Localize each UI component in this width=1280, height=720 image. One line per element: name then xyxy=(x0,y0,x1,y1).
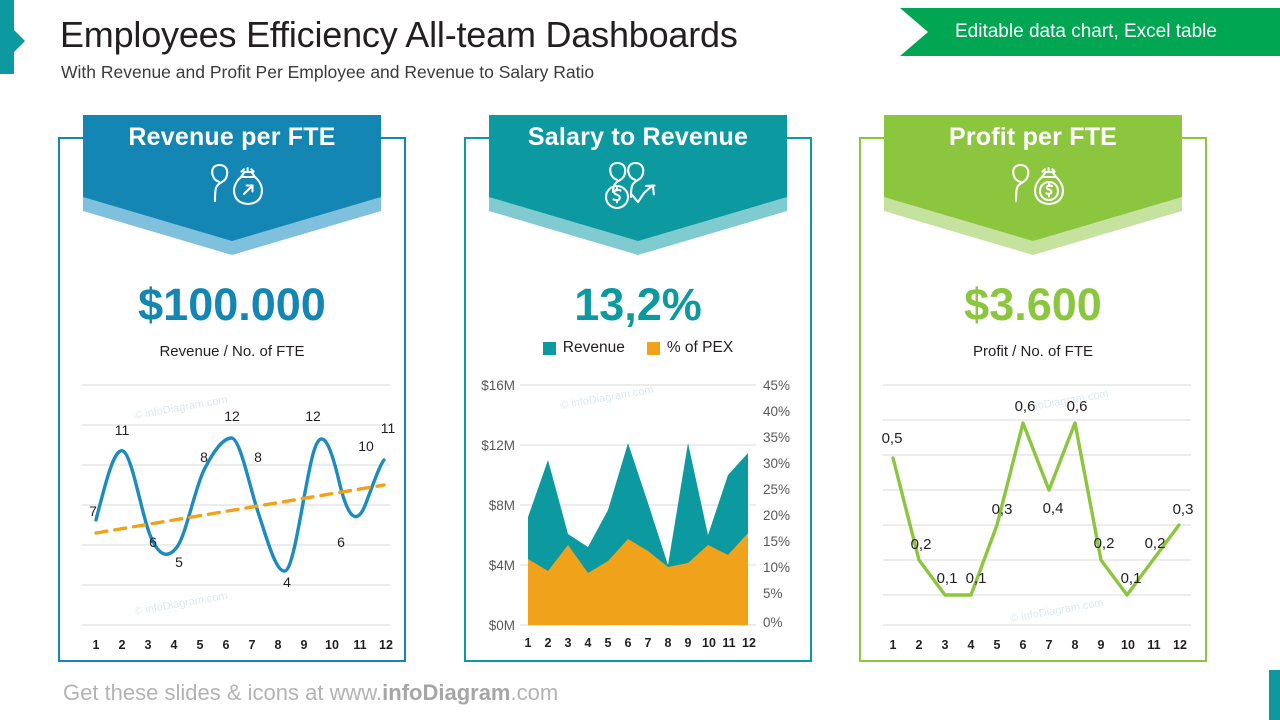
legend-label-revenue: Revenue xyxy=(563,339,625,357)
two-people-dollar-arrow-icon xyxy=(599,159,677,216)
y-left-tick: $16M xyxy=(481,378,515,393)
data-label: 7 xyxy=(89,503,97,519)
banner-arrow-shape xyxy=(83,115,381,241)
svg-text:6: 6 xyxy=(625,636,632,650)
data-label: 11 xyxy=(381,420,396,436)
card-banner: Profit per FTE xyxy=(884,115,1182,255)
data-label: 0,6 xyxy=(1015,398,1036,415)
data-label: 6 xyxy=(337,534,345,550)
left-edge-accent xyxy=(0,0,14,74)
legend-swatch-pex xyxy=(647,342,660,355)
svg-text:7: 7 xyxy=(249,638,256,652)
y-right-tick: 15% xyxy=(763,534,790,549)
y-right-tick: 20% xyxy=(763,508,790,523)
data-label: 6 xyxy=(149,534,157,550)
y-left-tick: $0M xyxy=(489,618,515,633)
y-right-tick: 5% xyxy=(763,586,783,601)
card-value: $3.600 xyxy=(861,279,1205,331)
data-label: 8 xyxy=(254,449,262,465)
banner-shadow xyxy=(884,123,1182,255)
card-banner: Salary to Revenue xyxy=(489,115,787,255)
slide-root: Employees Efficiency All-team Dashboards… xyxy=(0,0,1280,720)
data-label: 0,2 xyxy=(911,536,932,553)
svg-text:5: 5 xyxy=(994,638,1001,652)
data-label: 11 xyxy=(115,422,130,438)
data-label: 0,3 xyxy=(1173,501,1194,518)
svg-text:9: 9 xyxy=(685,636,692,650)
svg-text:6: 6 xyxy=(223,638,230,652)
data-label: 0,1 xyxy=(1121,570,1142,587)
svg-text:8: 8 xyxy=(1072,638,1079,652)
data-label: 10 xyxy=(358,438,374,454)
svg-text:1: 1 xyxy=(890,638,897,652)
footer-suffix: .com xyxy=(511,680,559,705)
editable-badge: Editable data chart, Excel table xyxy=(900,8,1280,56)
card-banner: Revenue per FTE xyxy=(83,115,381,255)
svg-text:11: 11 xyxy=(722,636,735,650)
card-revenue-per-fte: Revenue per FTE $100.000 Revenue / No. o… xyxy=(58,137,406,662)
svg-text:10: 10 xyxy=(325,638,339,652)
svg-text:9: 9 xyxy=(301,638,308,652)
svg-text:7: 7 xyxy=(1046,638,1053,652)
data-label: 4 xyxy=(283,574,291,590)
svg-text:10: 10 xyxy=(1121,638,1135,652)
y-left-tick: $8M xyxy=(489,498,515,513)
legend-label-pex: % of PEX xyxy=(667,339,733,357)
person-money-bag-icon xyxy=(197,159,267,216)
badge-label: Editable data chart, Excel table xyxy=(955,8,1217,56)
svg-text:9: 9 xyxy=(1098,638,1105,652)
svg-text:12: 12 xyxy=(742,636,756,650)
y-right-tick: 0% xyxy=(763,615,783,630)
svg-text:5: 5 xyxy=(605,636,612,650)
data-label: 12 xyxy=(305,408,321,424)
svg-text:3: 3 xyxy=(565,636,572,650)
footer-promo: Get these slides & icons at www.infoDiag… xyxy=(63,680,558,706)
data-label: 0,1 xyxy=(966,570,987,587)
svg-text:10: 10 xyxy=(702,636,716,650)
footer-brand: infoDiagram xyxy=(382,680,510,705)
data-label: 8 xyxy=(200,449,208,465)
svg-text:2: 2 xyxy=(119,638,126,652)
watermark: © infoDiagram.com xyxy=(133,394,228,422)
svg-text:4: 4 xyxy=(171,638,178,652)
page-subtitle: With Revenue and Profit Per Employee and… xyxy=(61,62,594,83)
bottom-right-accent xyxy=(1269,670,1280,720)
chart-revenue-per-fte: © infoDiagram.com © infoDiagram.com 7 11… xyxy=(60,375,404,660)
banner-arrow-shape xyxy=(489,115,787,241)
footer-prefix: Get these slides & icons at www. xyxy=(63,680,382,705)
y-right-tick: 30% xyxy=(763,456,790,471)
y-right-tick: 10% xyxy=(763,560,790,575)
svg-text:6: 6 xyxy=(1020,638,1027,652)
data-label: 0,1 xyxy=(937,570,958,587)
data-label: 0,2 xyxy=(1145,535,1166,552)
y-left-tick: $12M xyxy=(481,438,515,453)
svg-text:8: 8 xyxy=(665,636,672,650)
data-label: 0,3 xyxy=(992,501,1013,518)
y-right-tick: 25% xyxy=(763,482,790,497)
data-label: 12 xyxy=(224,408,240,424)
svg-text:11: 11 xyxy=(353,638,366,652)
svg-text:12: 12 xyxy=(1173,638,1187,652)
card-profit-per-fte: Profit per FTE $3.600 Profit xyxy=(859,137,1207,662)
left-edge-accent-tip xyxy=(14,30,25,52)
data-label: 0,5 xyxy=(882,430,903,447)
card-title: Revenue per FTE xyxy=(83,123,381,152)
y-left-tick: $4M xyxy=(489,558,515,573)
watermark: © infoDiagram.com xyxy=(559,384,654,412)
svg-text:4: 4 xyxy=(968,638,975,652)
y-right-tick: 45% xyxy=(763,378,790,393)
banner-arrow-shape xyxy=(884,115,1182,241)
data-label: 0,2 xyxy=(1094,535,1115,552)
svg-text:5: 5 xyxy=(197,638,204,652)
svg-text:3: 3 xyxy=(145,638,152,652)
svg-text:7: 7 xyxy=(645,636,652,650)
y-right-tick: 40% xyxy=(763,404,790,419)
svg-text:1: 1 xyxy=(525,636,532,650)
card-caption: Profit / No. of FTE xyxy=(861,343,1205,360)
svg-text:1: 1 xyxy=(93,638,100,652)
chart-salary-to-revenue: © infoDiagram.com © infoDiagram.com $16M… xyxy=(466,375,810,660)
watermark: © infoDiagram.com xyxy=(133,590,228,618)
legend-swatch-revenue xyxy=(543,342,556,355)
svg-text:8: 8 xyxy=(275,638,282,652)
svg-text:11: 11 xyxy=(1147,638,1160,652)
card-caption: Revenue / No. of FTE xyxy=(60,343,404,360)
chart-legend: Revenue % of PEX xyxy=(466,339,810,357)
chart-profit-per-fte: © infoDiagram.com © infoDiagram.com 0,5 … xyxy=(861,375,1205,660)
card-title: Profit per FTE xyxy=(884,123,1182,152)
banner-shadow xyxy=(83,123,381,255)
legend-item-revenue: Revenue xyxy=(543,339,625,357)
legend-item-pex: % of PEX xyxy=(647,339,733,357)
data-label: 0,6 xyxy=(1067,398,1088,415)
banner-shadow xyxy=(489,123,787,255)
card-value: $100.000 xyxy=(60,279,404,331)
svg-text:2: 2 xyxy=(916,638,923,652)
svg-text:12: 12 xyxy=(379,638,393,652)
y-right-tick: 35% xyxy=(763,430,790,445)
data-label: 5 xyxy=(175,554,183,570)
person-money-bag-icon xyxy=(998,159,1068,216)
card-salary-to-revenue: Salary to Revenue 13 xyxy=(464,137,812,662)
svg-text:4: 4 xyxy=(585,636,592,650)
card-value: 13,2% xyxy=(466,279,810,331)
svg-text:3: 3 xyxy=(942,638,949,652)
page-title: Employees Efficiency All-team Dashboards xyxy=(60,14,738,56)
watermark: © infoDiagram.com xyxy=(1009,597,1104,625)
card-title: Salary to Revenue xyxy=(489,123,787,152)
svg-text:2: 2 xyxy=(545,636,552,650)
data-label: 0,4 xyxy=(1043,500,1064,517)
